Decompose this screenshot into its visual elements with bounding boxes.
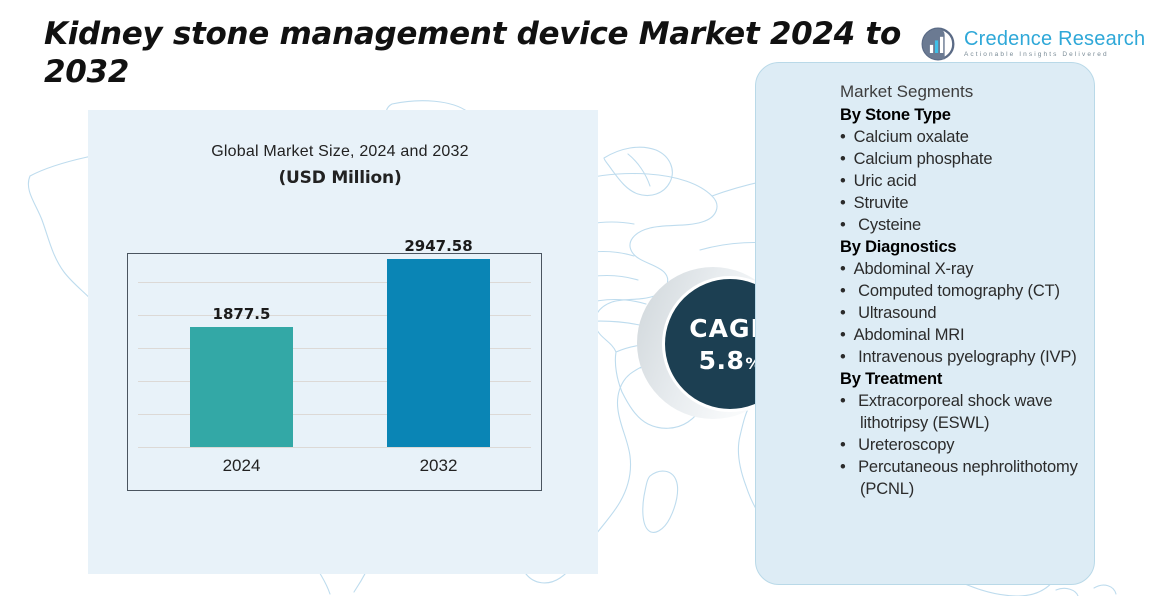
bar-2024 [190, 327, 293, 447]
bar-value-2032: 2947.58 [404, 237, 472, 255]
segment-item: •Calcium oxalate [840, 126, 1080, 148]
segment-item: • Intravenous pyelography (IVP) [840, 346, 1080, 368]
segment-item-label: Intravenous pyelography (IVP) [854, 348, 1077, 366]
chart-header: Global Market Size, 2024 and 2032 (USD M… [120, 143, 560, 188]
segment-item-label: Cysteine [854, 216, 921, 234]
bullet-icon: • [840, 260, 846, 278]
credence-bar-chart-logo-icon [920, 26, 956, 62]
segment-item-label: Uric acid [854, 172, 917, 190]
segment-item: •Abdominal X-ray [840, 258, 1080, 280]
segment-item: •Uric acid [840, 170, 1080, 192]
chart-plot-area: 1877.5 2024 2947.58 2032 [128, 254, 541, 490]
segment-group-title-treatment: By Treatment [840, 368, 1080, 390]
bullet-icon: • [840, 392, 846, 410]
bar-group-2024: 1877.5 2024 [190, 327, 293, 447]
brand-logo-text: Credence Research Actionable Insights De… [964, 29, 1145, 59]
bullet-icon: • [840, 128, 846, 146]
bar-category-2024: 2024 [223, 456, 261, 476]
brand-name: Credence Research [964, 29, 1145, 49]
bullet-icon: • [840, 172, 846, 190]
bullet-icon: • [840, 458, 846, 476]
segment-item: • Computed tomography (CT) [840, 280, 1080, 302]
bullet-icon: • [840, 436, 846, 454]
bullet-icon: • [840, 282, 846, 300]
bar-category-2032: 2032 [420, 456, 458, 476]
segment-item: •Abdominal MRI [840, 324, 1080, 346]
bar-value-2024: 1877.5 [213, 305, 271, 323]
segments-heading: Market Segments [840, 81, 1080, 104]
segment-item: • Extracorporeal shock wave lithotripsy … [840, 390, 1080, 434]
chart-subtitle: (USD Million) [120, 168, 560, 188]
segment-item-label: Abdominal X-ray [854, 260, 974, 278]
bullet-icon: • [840, 194, 846, 212]
brand-tagline: Actionable Insights Delivered [964, 52, 1145, 59]
segment-item-label: Ureteroscopy [854, 436, 955, 454]
infographic-page: Kidney stone management device Market 20… [0, 0, 1156, 596]
segment-item-label: Computed tomography (CT) [854, 282, 1060, 300]
segment-item-label: Calcium oxalate [854, 128, 969, 146]
segment-item-label: Calcium phosphate [854, 150, 993, 168]
segment-item-label: Percutaneous nephrolithotomy (PCNL) [854, 458, 1078, 498]
bullet-icon: • [840, 348, 846, 366]
cagr-value: 5.8 [699, 346, 745, 375]
segment-item-label: Struvite [854, 194, 909, 212]
segment-item-label: Extracorporeal shock wave lithotripsy (E… [854, 392, 1053, 432]
segment-item-label: Ultrasound [854, 304, 937, 322]
bullet-icon: • [840, 326, 846, 344]
segment-group-title-stone-type: By Stone Type [840, 104, 1080, 126]
segment-item: • Ultrasound [840, 302, 1080, 324]
segment-item: • Ureteroscopy [840, 434, 1080, 456]
segment-item: • Percutaneous nephrolithotomy (PCNL) [840, 456, 1080, 500]
market-segments-panel: Market Segments By Stone Type •Calcium o… [755, 62, 1095, 585]
brand-logo: Credence Research Actionable Insights De… [920, 26, 1145, 62]
market-segments-list: Market Segments By Stone Type •Calcium o… [840, 81, 1080, 500]
bullet-icon: • [840, 216, 846, 234]
segment-item: •Calcium phosphate [840, 148, 1080, 170]
segment-item-label: Abdominal MRI [854, 326, 965, 344]
bullet-icon: • [840, 304, 846, 322]
segment-group-title-diagnostics: By Diagnostics [840, 236, 1080, 258]
chart-title: Global Market Size, 2024 and 2032 [120, 143, 560, 161]
cagr-value-row: 5.8 % [699, 346, 762, 375]
segment-item: • Cysteine [840, 214, 1080, 236]
bar-group-2032: 2947.58 2032 [387, 259, 490, 447]
bar-chart: 1877.5 2024 2947.58 2032 [127, 253, 542, 491]
bullet-icon: • [840, 150, 846, 168]
bar-2032 [387, 259, 490, 447]
segment-item: •Struvite [840, 192, 1080, 214]
